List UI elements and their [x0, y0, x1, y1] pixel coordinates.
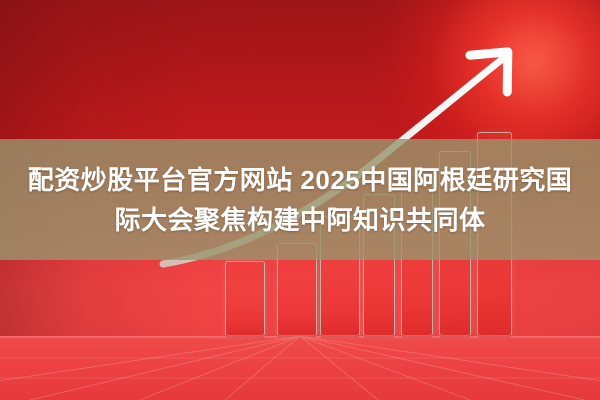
page-title: 配资炒股平台官方网站 2025中国阿根廷研究国 际大会聚焦构建中阿知识共同体 [20, 160, 580, 240]
headline-overlay-band: 配资炒股平台官方网站 2025中国阿根廷研究国 际大会聚焦构建中阿知识共同体 [0, 139, 600, 260]
banner-image: 配资炒股平台官方网站 2025中国阿根廷研究国 际大会聚焦构建中阿知识共同体 [0, 0, 600, 400]
headline-line-2: 际大会聚焦构建中阿知识共同体 [20, 200, 580, 240]
headline-line-1: 配资炒股平台官方网站 2025中国阿根廷研究国 [20, 160, 580, 200]
chart-bar-1 [225, 261, 265, 336]
